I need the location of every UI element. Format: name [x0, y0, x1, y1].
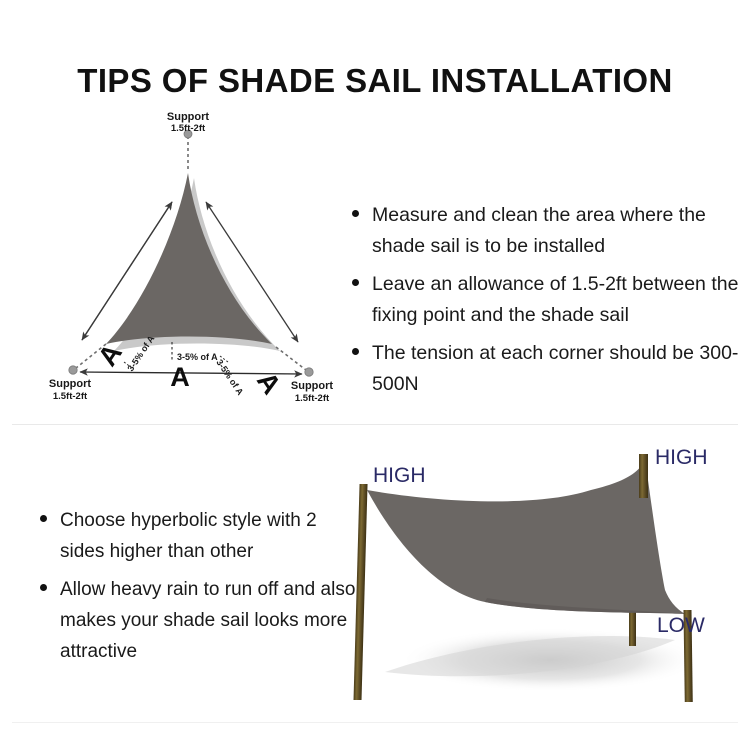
- tip-text: Choose hyperbolic style with 2 sides hig…: [60, 510, 317, 562]
- section-divider: [12, 424, 738, 425]
- list-item: Choose hyperbolic style with 2 sides hig…: [38, 505, 358, 567]
- support-label-bottom-right: Support: [291, 380, 333, 392]
- tip-text: The tension at each corner should be 300…: [372, 342, 738, 395]
- anchor-line-bottom-right: [276, 347, 306, 370]
- support-label-top: Support: [167, 111, 209, 123]
- page-title: TIPS OF SHADE SAIL INSTALLATION: [0, 62, 750, 100]
- list-item: The tension at each corner should be 300…: [350, 338, 740, 400]
- support-distance-bottom-left: 1.5ft-2ft: [53, 391, 88, 402]
- installation-tips-list-bottom: Choose hyperbolic style with 2 sides hig…: [38, 505, 358, 674]
- corner-label-right-low: LOW: [657, 614, 705, 637]
- hyperbolic-diagram-svg: HIGH HIGH LOW: [345, 432, 745, 724]
- side-label-right-A: A: [251, 367, 287, 400]
- side-note-bottom: 3-5% of A: [177, 352, 218, 362]
- post-right-high: [639, 458, 648, 498]
- side-note-right: 3-5% of A: [214, 358, 245, 398]
- support-label-bottom-left: Support: [49, 378, 91, 390]
- triangle-diagram-svg: A 3-5% of A A 3-5% of A A 3-5% of A Supp…: [20, 110, 360, 415]
- tip-text: Leave an allowance of 1.5-2ft between th…: [372, 273, 738, 326]
- triangle-shade-sail-diagram: A 3-5% of A A 3-5% of A A 3-5% of A Supp…: [20, 110, 360, 415]
- shade-sail-installation-infographic: TIPS OF SHADE SAIL INSTALLATION: [0, 0, 750, 750]
- tip-text: Measure and clean the area where the sha…: [372, 204, 706, 257]
- corner-label-right-high: HIGH: [655, 446, 708, 469]
- corner-label-left-high: HIGH: [373, 464, 426, 487]
- tip-text: Allow heavy rain to run off and also mak…: [60, 579, 355, 662]
- support-dot-bottom-right: [305, 368, 313, 376]
- hyperbolic-shade-sail-diagram: HIGH HIGH LOW: [345, 432, 745, 724]
- side-label-bottom-A: A: [170, 362, 190, 392]
- bottom-divider: [12, 722, 738, 723]
- list-item: Measure and clean the area where the sha…: [350, 200, 740, 262]
- sail-fabric: [106, 173, 272, 344]
- support-distance-top: 1.5ft-2ft: [171, 123, 206, 134]
- post-left-high: [354, 484, 368, 700]
- list-item: Allow heavy rain to run off and also mak…: [38, 574, 358, 667]
- installation-tips-list-top: Measure and clean the area where the sha…: [350, 200, 740, 407]
- support-distance-bottom-right: 1.5ft-2ft: [295, 393, 330, 404]
- list-item: Leave an allowance of 1.5-2ft between th…: [350, 269, 740, 331]
- support-dot-bottom-left: [69, 366, 77, 374]
